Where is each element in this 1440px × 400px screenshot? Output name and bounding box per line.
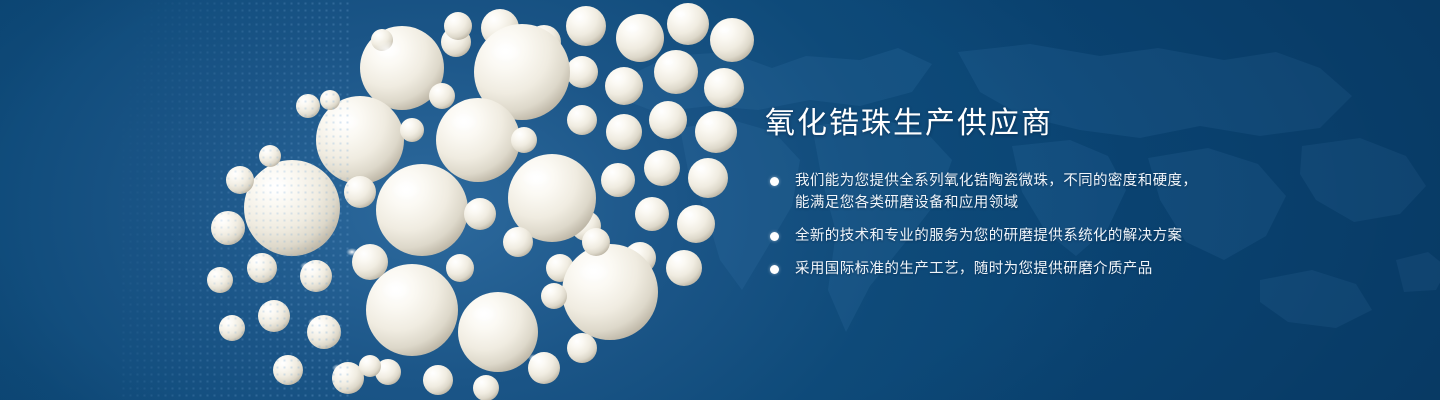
feature-list: 我们能为您提供全系列氧化锆陶瓷微珠，不同的密度和硬度， 能满足您各类研磨设备和应… xyxy=(765,170,1365,280)
hero-banner: 氧化锆珠生产供应商 我们能为您提供全系列氧化锆陶瓷微珠，不同的密度和硬度， 能满… xyxy=(0,0,1440,400)
list-item-line: 能满足您各类研磨设备和应用领域 xyxy=(795,192,1365,214)
bullet-dot-icon xyxy=(770,265,779,274)
bullet-dot-icon xyxy=(770,232,779,241)
list-item-line: 采用国际标准的生产工艺，随时为您提供研磨介质产品 xyxy=(795,258,1365,280)
list-item-line: 我们能为您提供全系列氧化锆陶瓷微珠，不同的密度和硬度， xyxy=(795,170,1365,192)
list-item: 全新的技术和专业的服务为您的研磨提供系统化的解决方案 xyxy=(765,225,1365,247)
page-title: 氧化锆珠生产供应商 xyxy=(765,104,1365,144)
halftone-fade xyxy=(120,0,350,400)
banner-copy: 氧化锆珠生产供应商 我们能为您提供全系列氧化锆陶瓷微珠，不同的密度和硬度， 能满… xyxy=(765,104,1365,280)
zirconia-beads-photo xyxy=(120,0,780,400)
bullet-dot-icon xyxy=(770,177,779,186)
list-item: 采用国际标准的生产工艺，随时为您提供研磨介质产品 xyxy=(765,258,1365,280)
list-item-line: 全新的技术和专业的服务为您的研磨提供系统化的解决方案 xyxy=(795,225,1365,247)
list-item: 我们能为您提供全系列氧化锆陶瓷微珠，不同的密度和硬度， 能满足您各类研磨设备和应… xyxy=(765,170,1365,214)
